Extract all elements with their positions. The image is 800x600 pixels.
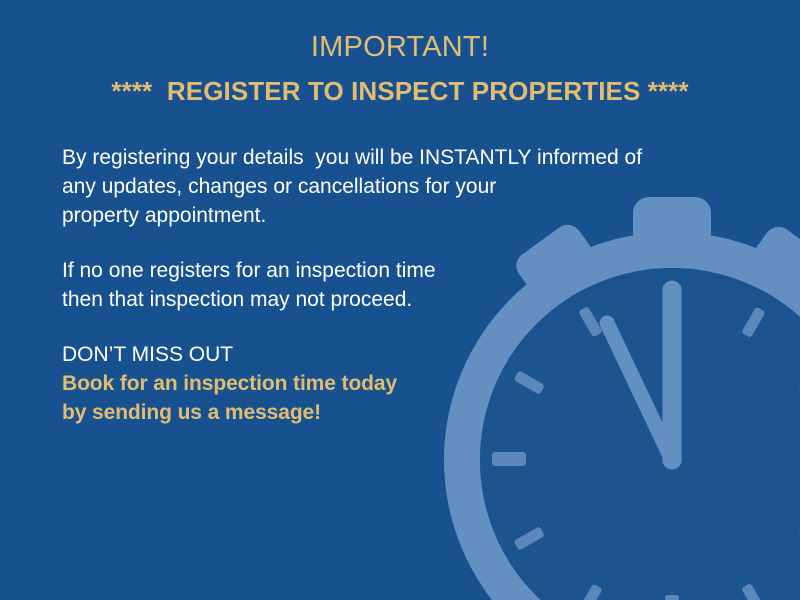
paragraph-line: By registering your details you will be … (62, 143, 752, 172)
promotional-poster: IMPORTANT! **** REGISTER TO INSPECT PROP… (0, 0, 800, 600)
paragraph-registering-details: By registering your details you will be … (62, 143, 752, 230)
poster-content: IMPORTANT! **** REGISTER TO INSPECT PROP… (0, 0, 800, 600)
paragraph-line: then that inspection may not proceed. (62, 285, 752, 314)
paragraph-line: any updates, changes or cancellations fo… (62, 172, 752, 201)
headline-block: IMPORTANT! **** REGISTER TO INSPECT PROP… (0, 30, 800, 107)
headline-important: IMPORTANT! (0, 30, 800, 64)
cta-dont-miss-out: DON’T MISS OUT (62, 340, 752, 369)
paragraph-no-registration-warning: If no one registers for an inspection ti… (62, 256, 752, 314)
cta-send-message: by sending us a message! (62, 398, 752, 427)
headline-register-to-inspect: **** REGISTER TO INSPECT PROPERTIES **** (0, 76, 800, 107)
body-block: By registering your details you will be … (62, 143, 752, 427)
cta-book-inspection: Book for an inspection time today (62, 369, 752, 398)
paragraph-line: If no one registers for an inspection ti… (62, 256, 752, 285)
paragraph-line: property appointment. (62, 201, 752, 230)
paragraph-call-to-action: DON’T MISS OUT Book for an inspection ti… (62, 340, 752, 427)
